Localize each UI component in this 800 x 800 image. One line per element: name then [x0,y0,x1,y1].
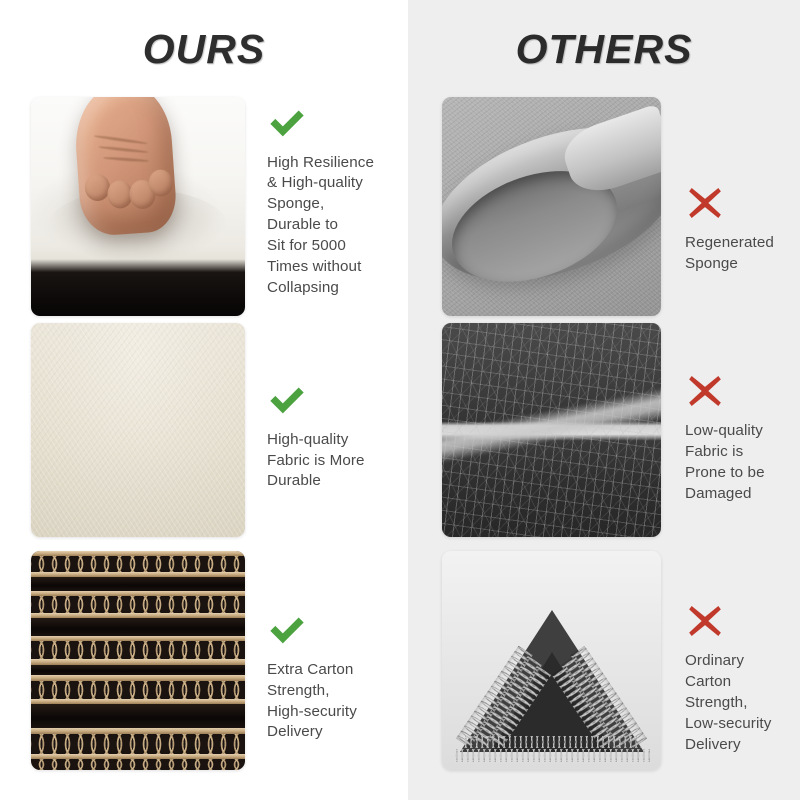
skin-crease [103,156,149,162]
check-icon [267,103,307,143]
carton-flute [31,759,245,770]
others-column-title: OTHERS [408,26,800,73]
ours-detail-1: High Resilience & High-quality Sponge, D… [245,103,391,299]
fist-pressing-white-foam-photo [31,97,245,316]
cross-icon [685,601,725,641]
others-detail-2: Low-quality Fabric is Prone to be Damage… [661,371,790,504]
ours-caption-1: High Resilience & High-quality Sponge, D… [267,153,391,299]
others-caption-1: Regenerated Sponge [685,233,790,275]
cracked-dark-fabric-photo [442,323,661,537]
others-caption-3: Ordinary Carton Strength, Low-security D… [685,651,790,755]
cream-fabric-swatch-photo [31,323,245,537]
ours-column-title: OURS [0,26,408,73]
carton-base-flute [454,749,650,762]
carton-flute [31,596,245,613]
ours-caption-3: Extra Carton Strength, High-security Del… [267,660,391,743]
comparison-infographic: OURS OTHERS High Resilience [0,0,800,800]
knuckle [148,169,174,198]
carton-flute [31,681,245,699]
others-feature-row-2: Low-quality Fabric is Prone to be Damage… [442,323,790,537]
ours-detail-3: Extra Carton Strength, High-security Del… [245,610,391,743]
ours-feature-row-3: Extra Carton Strength, High-security Del… [31,551,391,770]
carton-flute [31,734,245,754]
ours-detail-2: High-quality Fabric is More Durable [245,380,391,492]
skin-crease [94,134,148,144]
folded-gray-carton-photo [442,551,661,770]
others-detail-3: Ordinary Carton Strength, Low-security D… [661,601,790,755]
carton-void [31,618,245,636]
cross-icon [685,183,725,223]
carton-void [31,704,245,728]
ours-caption-2: High-quality Fabric is More Durable [267,430,391,492]
check-icon [267,380,307,420]
check-icon [267,610,307,650]
carton-base-flute [463,736,641,748]
others-feature-row-1: Regenerated Sponge [442,97,790,316]
hand-fist [72,97,178,237]
carton-void [31,665,245,675]
curled-gray-foam-sheet-photo [442,97,661,316]
others-feature-row-3: Ordinary Carton Strength, Low-security D… [442,551,790,770]
carton-flute [31,556,245,572]
carton-void [31,577,245,591]
skin-crease [98,145,148,153]
others-detail-1: Regenerated Sponge [661,183,790,275]
ours-feature-row-1: High Resilience & High-quality Sponge, D… [31,97,391,316]
corrugated-carton-cross-section-photo [31,551,245,770]
others-caption-2: Low-quality Fabric is Prone to be Damage… [685,421,790,504]
ours-feature-row-2: High-quality Fabric is More Durable [31,323,391,537]
carton-flute [31,641,245,659]
cross-icon [685,371,725,411]
